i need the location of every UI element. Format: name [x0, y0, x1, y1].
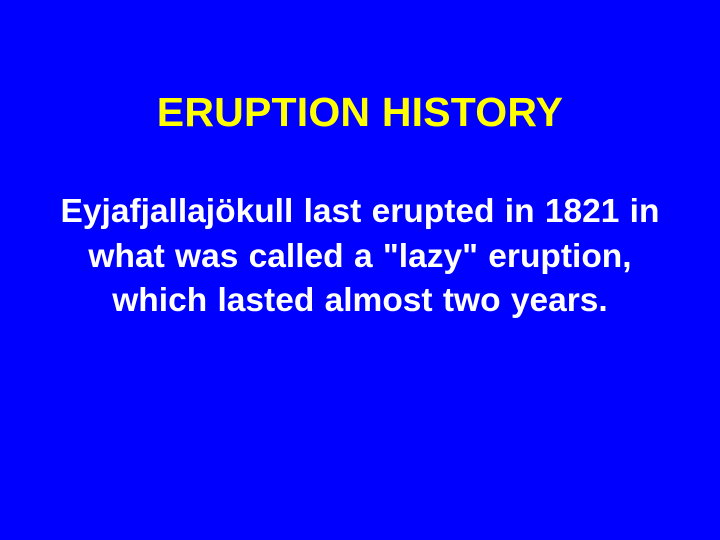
page-title: ERUPTION HISTORY	[0, 88, 720, 136]
presentation-slide: ERUPTION HISTORY Eyjafjallajökull last e…	[0, 0, 720, 540]
slide-body-text: Eyjafjallajökull last erupted in 1821 in…	[60, 190, 660, 324]
